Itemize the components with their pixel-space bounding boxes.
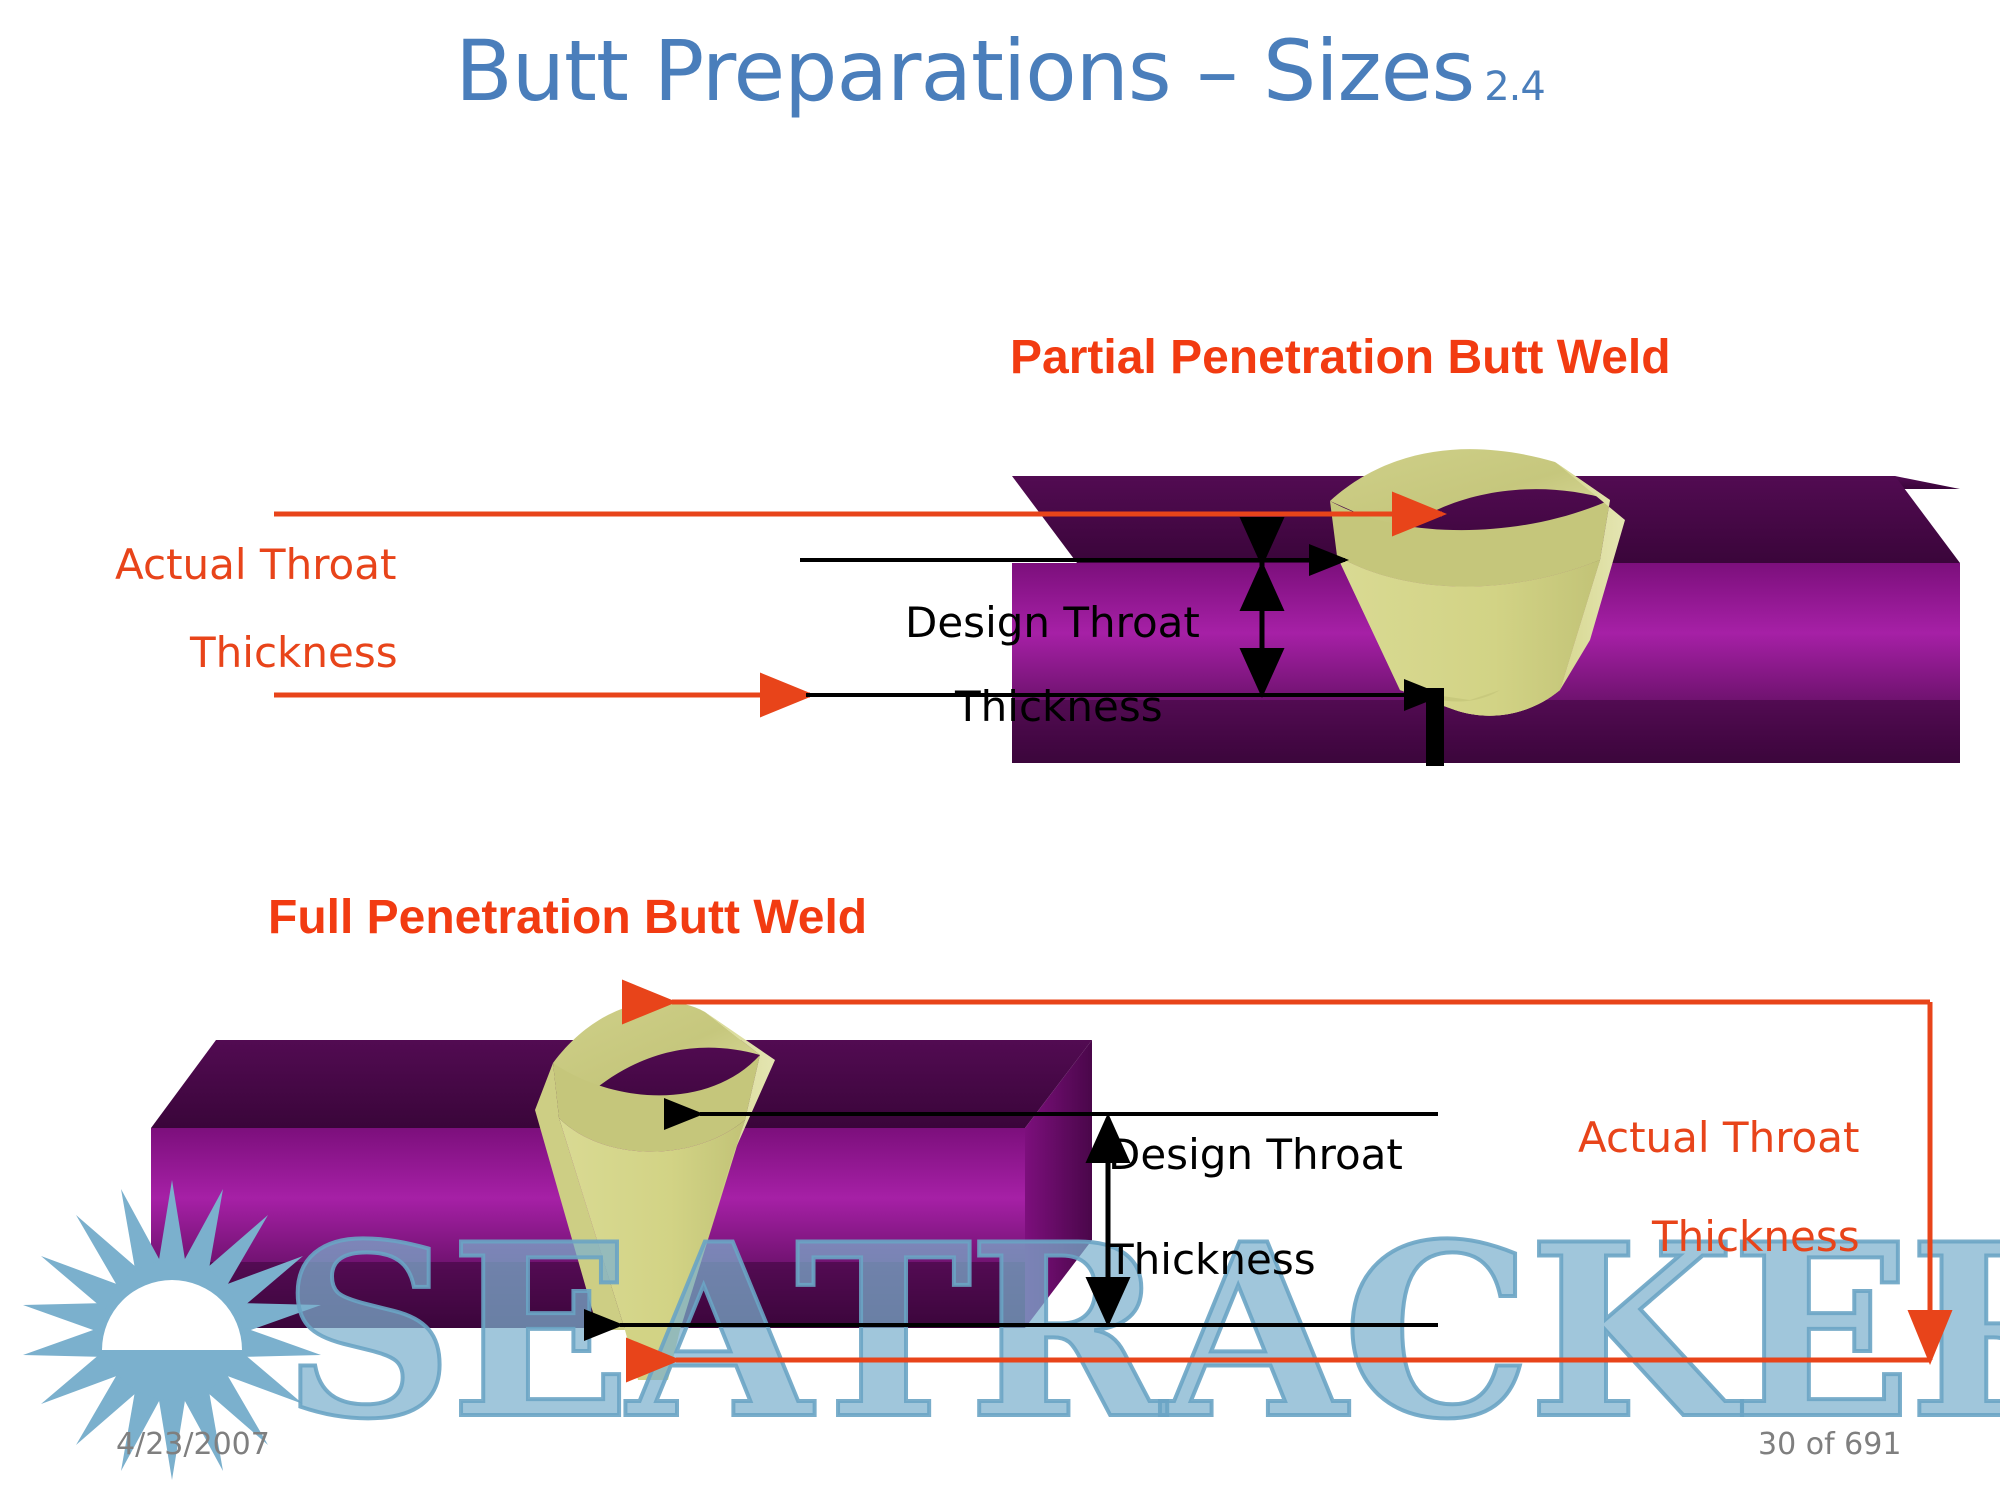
full-plate-top-face — [151, 1040, 1092, 1128]
page-title-version: 2.4 — [1484, 64, 1545, 110]
full-weld-bead-root-tip — [625, 1330, 680, 1380]
full-weld-bead — [535, 1001, 775, 1380]
footer-date: 4/23/2007 — [116, 1427, 270, 1462]
full-plate-front-face — [151, 1128, 1025, 1328]
heading-full-penetration: Full Penetration Butt Weld — [268, 890, 867, 945]
weld-bead-lower-v — [1400, 690, 1500, 702]
page-title: Butt Preparations – Sizes2.4 — [0, 22, 2000, 120]
dimension-leaders — [0, 0, 2000, 1500]
label-actual-throat-top-line1: Actual Throat — [115, 540, 396, 589]
label-actual-throat-top-line2: Thickness — [190, 628, 398, 677]
full-plate-front-shadow — [151, 1262, 1025, 1328]
label-design-throat-bottom-line1: Design Throat — [1108, 1130, 1403, 1179]
weld-bead-inner — [1330, 500, 1610, 587]
weld-bead-top-face — [1330, 449, 1610, 532]
weld-bead-front-face — [1337, 556, 1600, 716]
label-design-throat-top-line1: Design Throat — [905, 598, 1200, 647]
page-title-text: Butt Preparations – Sizes — [455, 22, 1474, 120]
plate-top-face-partial — [1012, 476, 1960, 489]
heading-partial-penetration: Partial Penetration Butt Weld — [1010, 330, 1671, 385]
watermark: SEATRACKER.RU — [0, 0, 2000, 1500]
full-weld-bead-top-face — [553, 1001, 760, 1095]
weld-diagrams-graphics — [0, 0, 2000, 1500]
weld-bead-v-groove — [1337, 556, 1600, 716]
footer-page-number: 30 of 691 — [1758, 1427, 1901, 1462]
full-weld-bead-inner — [553, 1055, 760, 1152]
label-actual-throat-bottom-line2: Thickness — [1652, 1212, 1860, 1261]
weld-bead-root-taper — [1400, 690, 1560, 716]
full-plate-right-end — [1025, 1040, 1092, 1328]
plate-top-face-skew — [1012, 476, 1960, 563]
label-design-throat-bottom-line2: Thickness — [1108, 1235, 1316, 1284]
full-weld-bead-left-flank — [535, 1063, 625, 1330]
partial-unfused-gap — [1426, 688, 1444, 766]
weld-bead-right-flank — [1555, 462, 1625, 690]
full-weld-bead-right-flank — [700, 1012, 775, 1260]
plate-front-face — [1012, 563, 1960, 763]
plate-top-face — [1063, 477, 1950, 493]
partial-weld-bead — [1330, 449, 1625, 716]
label-design-throat-top-line2: Thickness — [955, 682, 1163, 731]
full-penetration-block — [151, 1001, 1092, 1380]
label-actual-throat-bottom-line1: Actual Throat — [1578, 1113, 1859, 1162]
full-weld-bead-body — [559, 1118, 745, 1330]
